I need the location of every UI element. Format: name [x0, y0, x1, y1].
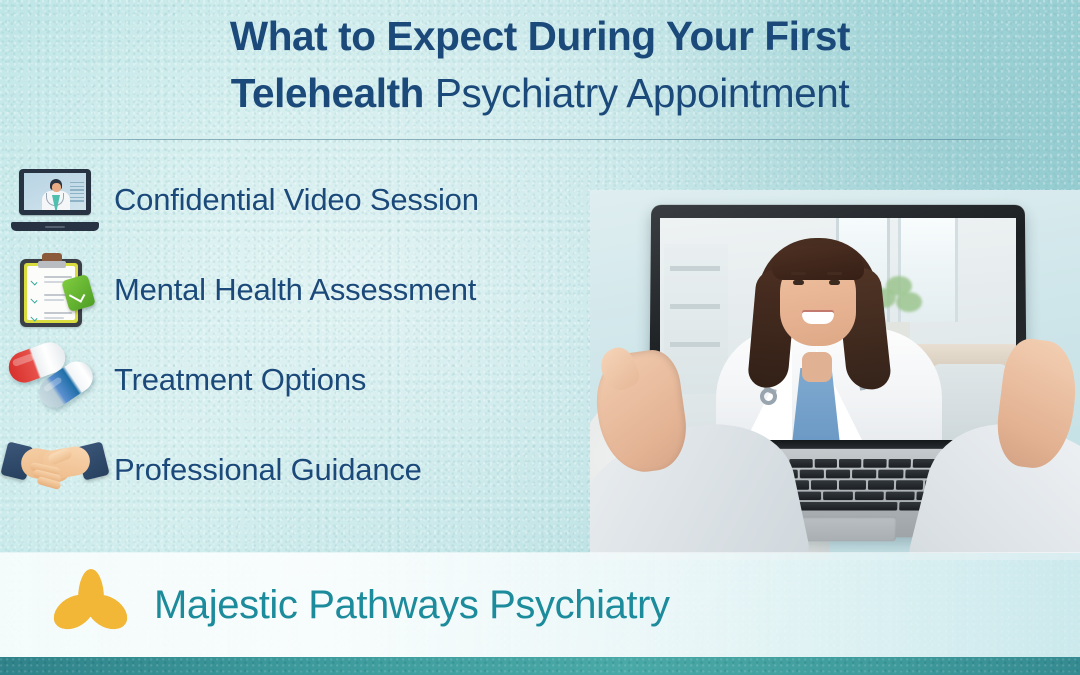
handshake-icon: [0, 431, 110, 509]
feature-list: Confidential Video Session Mental Health…: [0, 155, 620, 515]
pills-capsules-icon: [0, 341, 110, 419]
title-divider: [56, 139, 1036, 140]
list-item-label: Professional Guidance: [114, 452, 422, 488]
page-title: What to Expect During Your First Telehea…: [0, 8, 1080, 122]
list-item-label: Mental Health Assessment: [114, 272, 476, 308]
telehealth-laptop-photo: [590, 190, 1080, 560]
footer-brand-bar: Majestic Pathways Psychiatry: [0, 553, 1080, 657]
title-line-2-rest: Psychiatry Appointment: [424, 70, 849, 116]
title-line-1: What to Expect During Your First: [0, 8, 1080, 65]
list-item: Treatment Options: [0, 335, 620, 425]
list-item: Mental Health Assessment: [0, 245, 620, 335]
list-item-label: Treatment Options: [114, 362, 366, 398]
title-line-2: Telehealth Psychiatry Appointment: [0, 65, 1080, 122]
infographic-canvas: What to Expect During Your First Telehea…: [0, 0, 1080, 675]
laptop-video-doctor-icon: [0, 161, 110, 239]
lotus-leaf-logo: [52, 567, 128, 643]
bottom-accent-bar: [0, 657, 1080, 675]
list-item: Confidential Video Session: [0, 155, 620, 245]
brand-name: Majestic Pathways Psychiatry: [154, 583, 670, 628]
title-emphasis-telehealth: Telehealth: [231, 70, 424, 116]
clipboard-checklist-icon: [0, 251, 110, 329]
list-item: Professional Guidance: [0, 425, 620, 515]
list-item-label: Confidential Video Session: [114, 182, 479, 218]
